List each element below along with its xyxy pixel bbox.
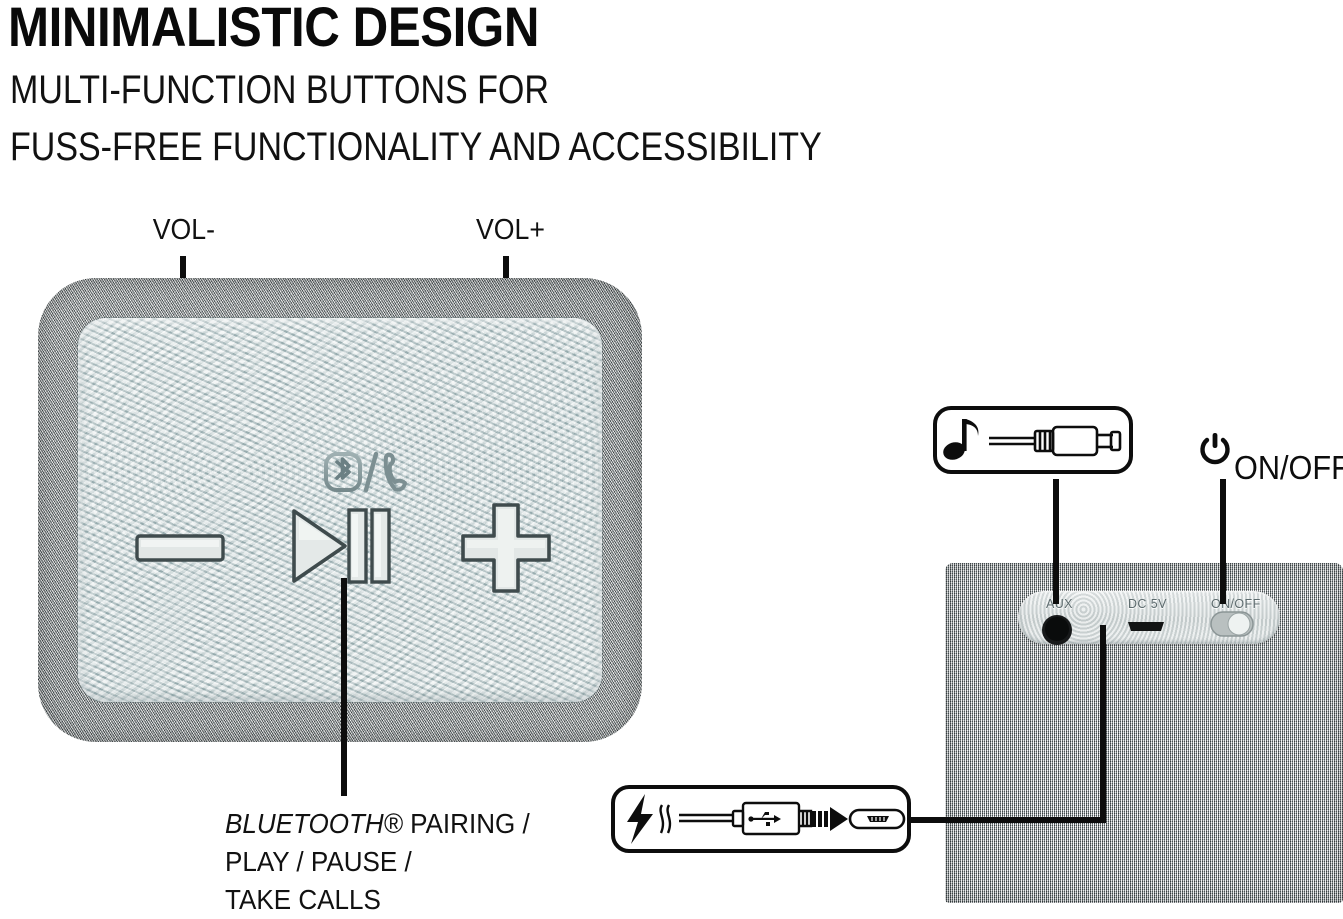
play-pause-leader-line: [341, 578, 347, 796]
music-note-icon: [941, 419, 979, 462]
power-toggle-switch[interactable]: [1210, 611, 1254, 642]
usb-trident-icon: [748, 812, 781, 826]
charging-callout-badge: [611, 785, 911, 853]
on-off-label: ON/OFF: [1234, 449, 1343, 487]
power-symbol: [1199, 432, 1231, 471]
play-pause-caption: BLUETOOTH® PAIRING / PLAY / PAUSE / TAKE…: [225, 805, 530, 919]
aux-jack-port[interactable]: [1040, 613, 1074, 652]
aux-port-label: AUX: [1046, 597, 1073, 611]
vol-plus-label: VOL+: [476, 214, 545, 247]
subtitle-line-2: FUSS-FREE FUNCTIONALITY AND ACCESSIBILIT…: [10, 127, 822, 168]
leather-surface: [78, 318, 602, 702]
micro-usb-port-icon: [1125, 620, 1167, 633]
lightning-bolt-icon: [627, 794, 653, 844]
speaker-top-control-panel: [38, 278, 642, 742]
power-switch-label: ON/OFF: [1211, 597, 1261, 611]
audio-plug-icon: [989, 427, 1120, 455]
caption-line-1-rest: PAIRING /: [403, 808, 530, 839]
plus-icon: [461, 503, 551, 593]
volume-down-button[interactable]: [135, 534, 225, 567]
infographic-canvas: MINIMALISTIC DESIGN MULTI-FUNCTION BUTTO…: [0, 0, 1343, 910]
power-icon: [1199, 432, 1231, 466]
dc-port-label: DC 5V: [1128, 597, 1167, 611]
caption-line-1: BLUETOOTH® PAIRING /: [225, 805, 530, 843]
micro-usb-port-icon: [850, 810, 904, 828]
usb-leader-line-vertical: [1100, 625, 1106, 823]
arrow-right-icon: [812, 807, 848, 831]
caption-line-3: TAKE CALLS: [225, 881, 530, 919]
toggle-switch-icon: [1210, 611, 1254, 637]
charging-callout-graphic: [615, 789, 907, 849]
page-title: MINIMALISTIC DESIGN: [8, 0, 539, 57]
minus-icon: [135, 534, 225, 562]
bluetooth-call-indicator: [324, 448, 416, 501]
usb-cable-icon: [679, 803, 811, 834]
usb-leader-line-horizontal: [906, 817, 1106, 823]
caption-line-2: PLAY / PAUSE /: [225, 843, 530, 881]
bluetooth-wordmark: BLUETOOTH®: [225, 808, 403, 839]
subtitle-line-1: MULTI-FUNCTION BUTTONS FOR: [10, 70, 549, 111]
onoff-leader-line: [1220, 479, 1226, 604]
bluetooth-phone-glyph: [324, 448, 416, 496]
volume-up-button[interactable]: [461, 503, 551, 598]
aux-callout-badge: [933, 406, 1133, 474]
signal-wave-icon: [661, 805, 670, 833]
play-pause-icon: [291, 507, 391, 585]
aux-callout-graphic: [937, 410, 1129, 470]
vol-minus-label: VOL-: [153, 214, 215, 247]
aux-jack-icon: [1040, 613, 1074, 647]
dc-charging-port[interactable]: [1125, 620, 1167, 638]
aux-leader-line: [1053, 479, 1059, 604]
